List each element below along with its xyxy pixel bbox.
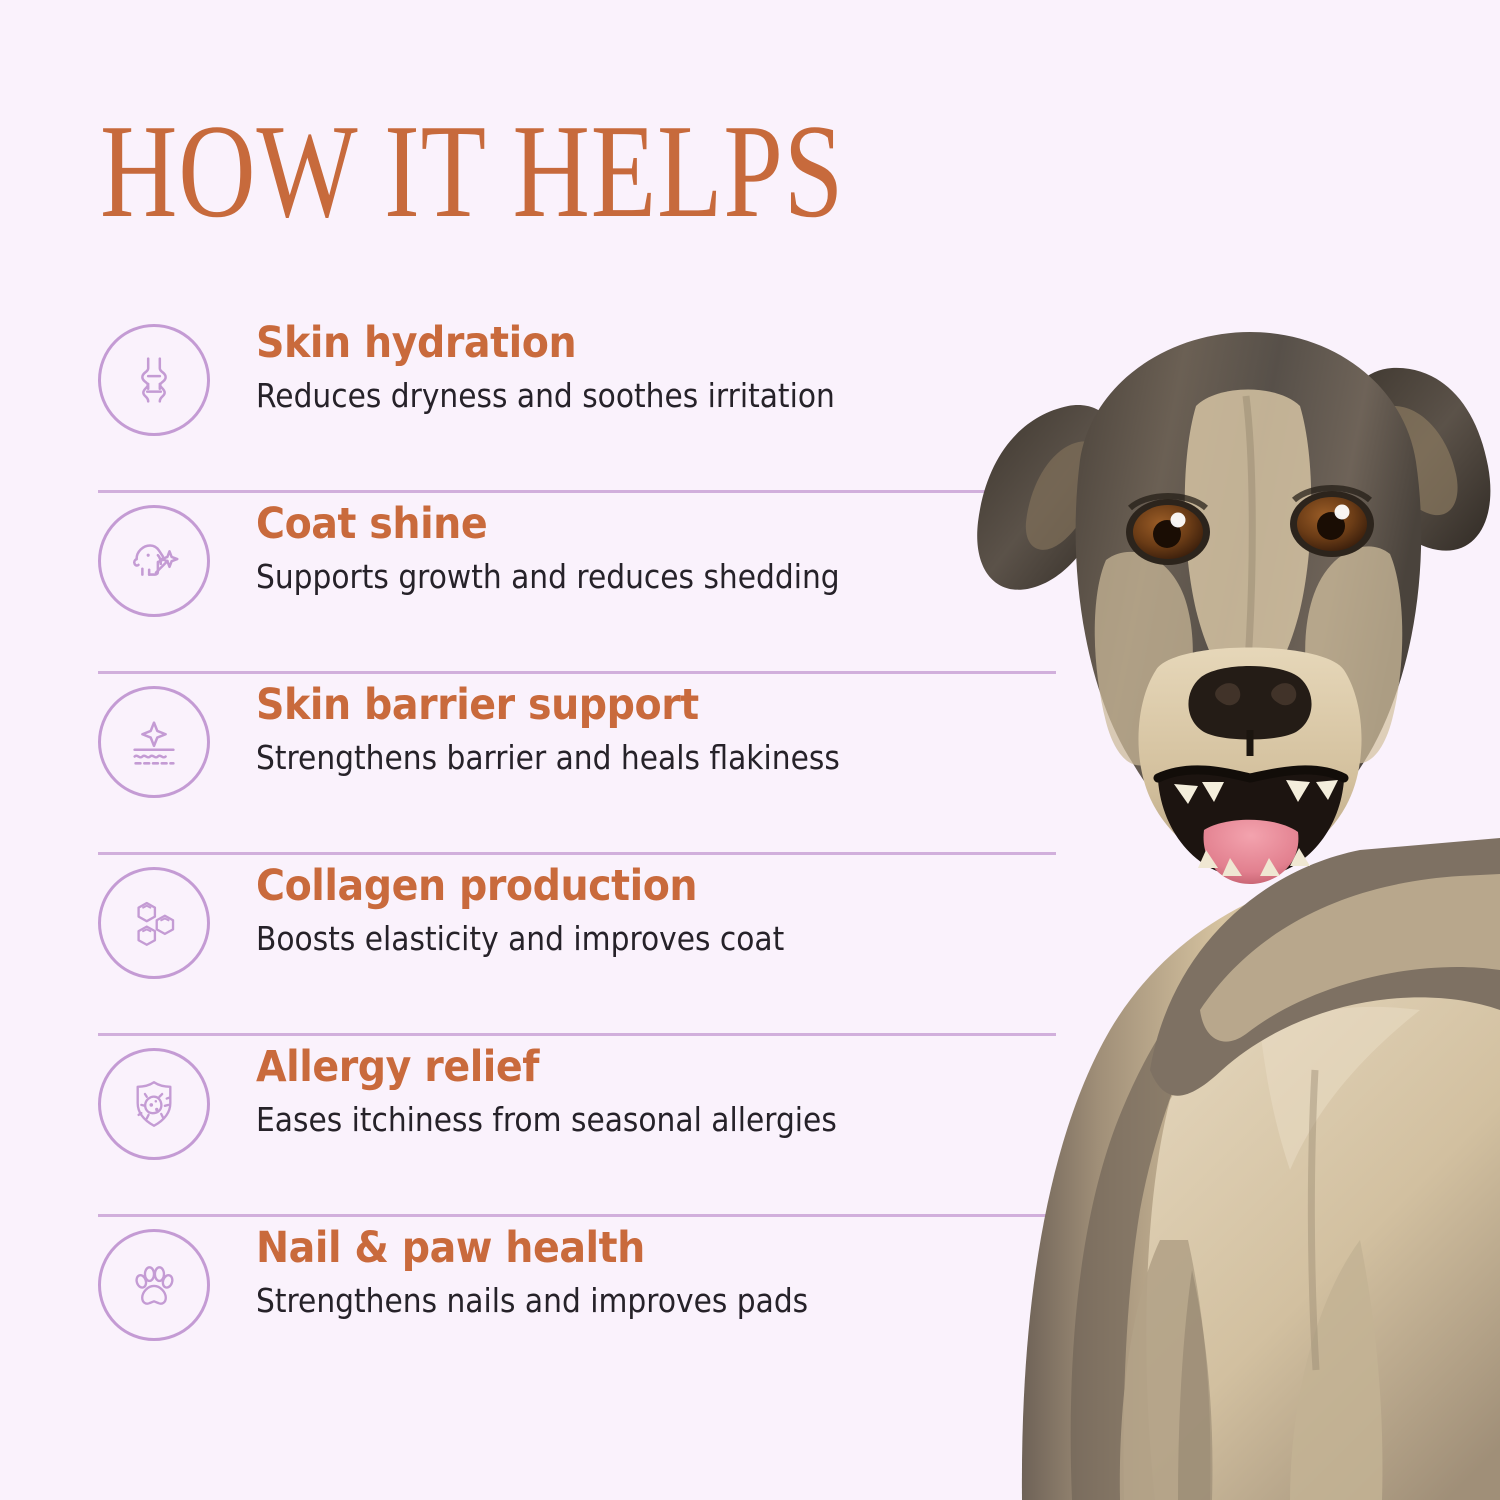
benefit-row-nail-paw: Nail & paw health Strengthens nails and … (98, 1217, 958, 1398)
paw-print-icon (98, 1229, 210, 1341)
benefit-title: Collagen production (256, 863, 796, 909)
benefit-title: Allergy relief (256, 1044, 850, 1090)
shield-germ-icon (98, 1048, 210, 1160)
benefit-row-skin-hydration: Skin hydration Reduces dryness and sooth… (98, 312, 958, 493)
benefit-title: Coat shine (256, 501, 853, 547)
benefit-title: Skin barrier support (256, 682, 853, 728)
benefit-text: Nail & paw health Strengthens nails and … (256, 1217, 870, 1320)
benefit-description: Eases itchiness from seasonal allergies (256, 1102, 837, 1139)
benefit-title: Nail & paw health (256, 1225, 820, 1271)
benefit-row-allergy-relief: Allergy relief Eases itchiness from seas… (98, 1036, 958, 1217)
dog-photo (960, 310, 1500, 1500)
benefit-text: Skin barrier support Strengthens barrier… (256, 674, 905, 777)
page-title: HOW IT HELPS (100, 104, 844, 238)
benefit-description: Boosts elasticity and improves coat (256, 921, 784, 958)
benefit-text: Allergy relief Eases itchiness from seas… (256, 1036, 901, 1139)
skin-layers-sparkle-icon (98, 686, 210, 798)
benefit-row-collagen: Collagen production Boosts elasticity an… (98, 855, 958, 1036)
benefit-row-skin-barrier: Skin barrier support Strengthens barrier… (98, 674, 958, 855)
benefit-description: Strengthens nails and improves pads (256, 1283, 808, 1320)
benefit-description: Reduces dryness and soothes irritation (256, 378, 835, 415)
promo-card: HOW IT HELPS Skin hydration Reduces dryn… (0, 0, 1500, 1500)
honeycomb-molecule-icon (98, 867, 210, 979)
benefit-description: Supports growth and reduces shedding (256, 559, 840, 596)
dog-head-sparkle-icon (98, 505, 210, 617)
benefits-list: Skin hydration Reduces dryness and sooth… (98, 312, 958, 1398)
benefit-text: Coat shine Supports growth and reduces s… (256, 493, 905, 596)
benefit-text: Collagen production Boosts elasticity an… (256, 855, 843, 958)
benefit-title: Skin hydration (256, 320, 848, 366)
joint-bone-icon (98, 324, 210, 436)
benefit-text: Skin hydration Reduces dryness and sooth… (256, 312, 899, 415)
benefit-row-coat-shine: Coat shine Supports growth and reduces s… (98, 493, 958, 674)
benefit-description: Strengthens barrier and heals flakiness (256, 740, 840, 777)
